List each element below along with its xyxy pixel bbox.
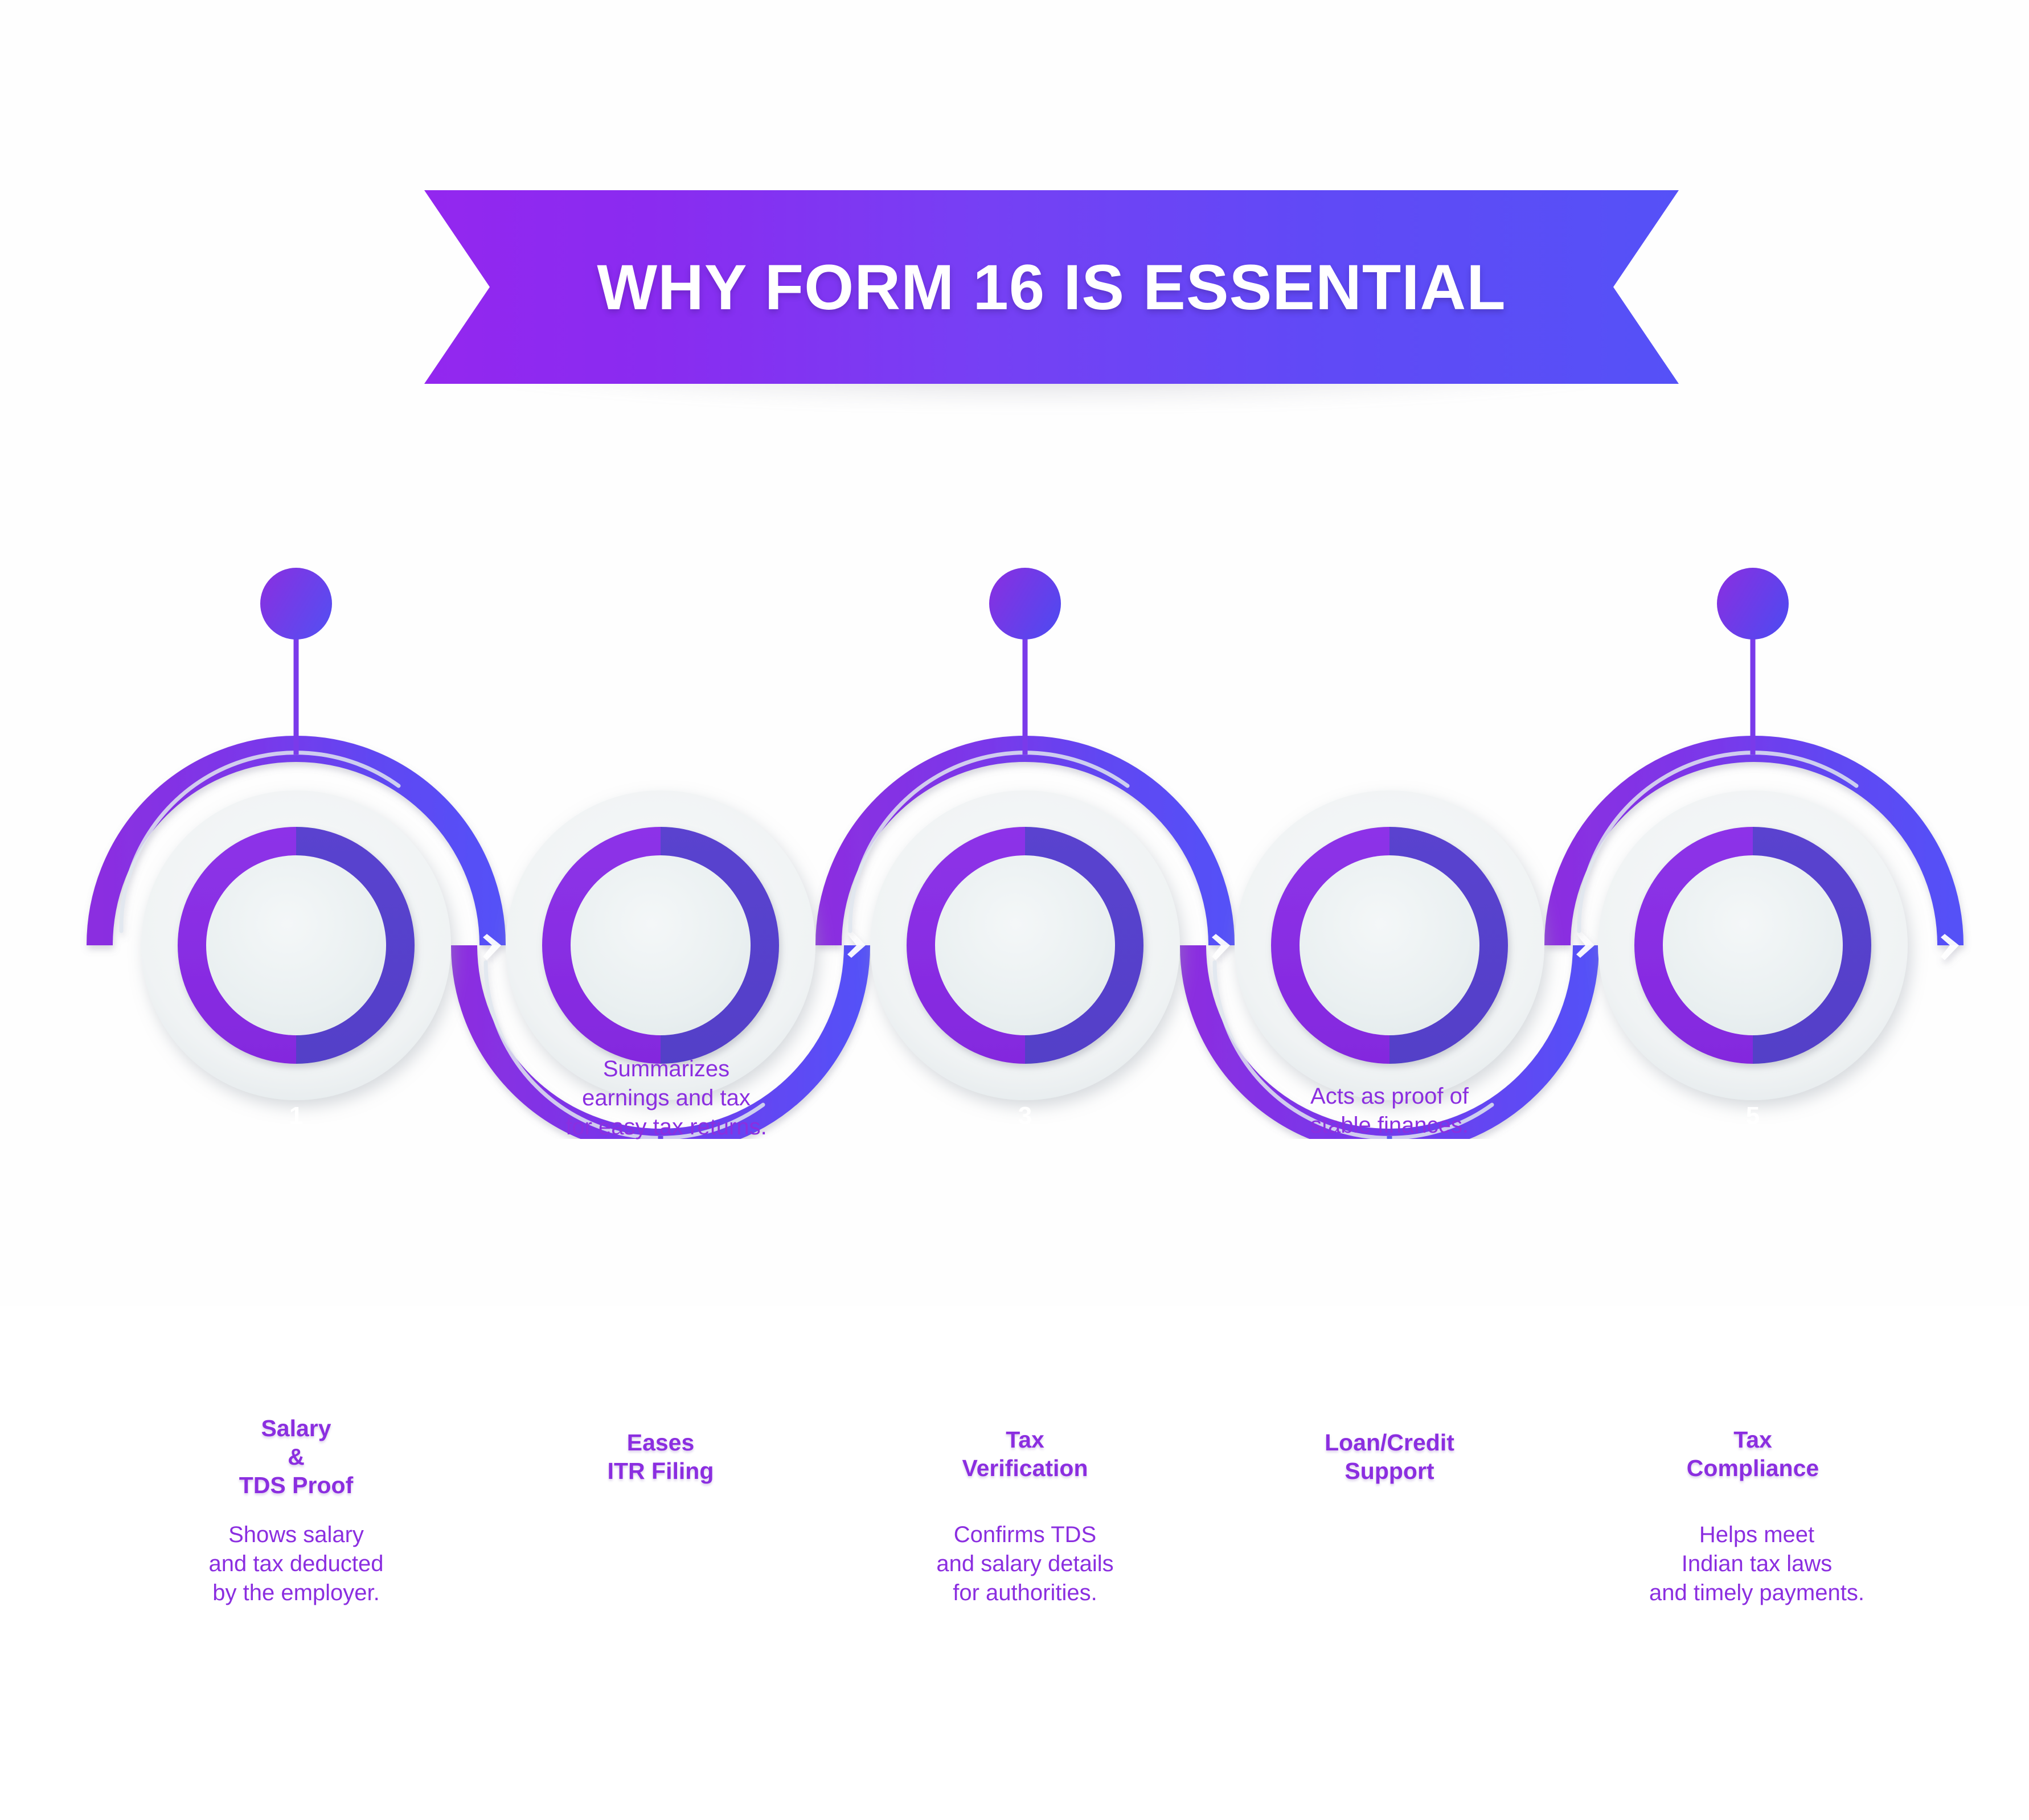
node-caption-2: Summarizesearnings and taxfor easy tax r…: [518, 1055, 814, 1142]
node-caption-5: Helps meetIndian tax lawsand timely paym…: [1606, 1520, 1908, 1608]
disc-node-2: [506, 790, 815, 1100]
disc-node-4: [1235, 790, 1544, 1100]
node-caption-4: Acts as proof ofstable finances.: [1253, 1082, 1526, 1140]
disc-center-5: [1663, 855, 1843, 1035]
banner-ribbon: WHY FORM 16 IS ESSENTIAL: [424, 190, 1679, 384]
badge-number-4: 4: [1361, 1794, 1418, 1819]
page-title: WHY FORM 16 IS ESSENTIAL: [597, 251, 1506, 324]
node-title-2: EasesITR Filing: [558, 1428, 763, 1485]
node-caption-1: Shows salaryand tax deductedby the emplo…: [159, 1520, 433, 1608]
flow-graphics: [0, 513, 2029, 1139]
badge-circle-1: [260, 568, 332, 640]
disc-node-5: [1598, 790, 1908, 1100]
badge-circle-3: [989, 568, 1061, 640]
badge-group-3: [989, 568, 1061, 755]
badge-circle-5: [1717, 568, 1789, 640]
node-title-5: TaxCompliance: [1640, 1425, 1866, 1482]
badge-group-5: [1717, 568, 1789, 755]
process-flow: 1 2 3 4 5 Salary&TDS Proof EasesITR Fili…: [0, 513, 2029, 1139]
disc-center-2: [571, 855, 751, 1035]
disc-center-1: [206, 855, 386, 1035]
node-title-3: TaxVerification: [911, 1425, 1139, 1482]
disc-node-1: [141, 790, 451, 1100]
disc-center-4: [1300, 855, 1479, 1035]
title-banner: WHY FORM 16 IS ESSENTIAL: [424, 190, 1679, 384]
badge-number-2: 2: [632, 1794, 689, 1819]
node-caption-3: Confirms TDSand salary detailsfor author…: [888, 1520, 1162, 1608]
disc-center-3: [935, 855, 1115, 1035]
node-title-1: Salary&TDS Proof: [194, 1414, 399, 1499]
node-title-4: Loan/CreditSupport: [1278, 1428, 1501, 1485]
badge-group-1: [260, 568, 332, 755]
disc-node-3: [870, 790, 1180, 1100]
